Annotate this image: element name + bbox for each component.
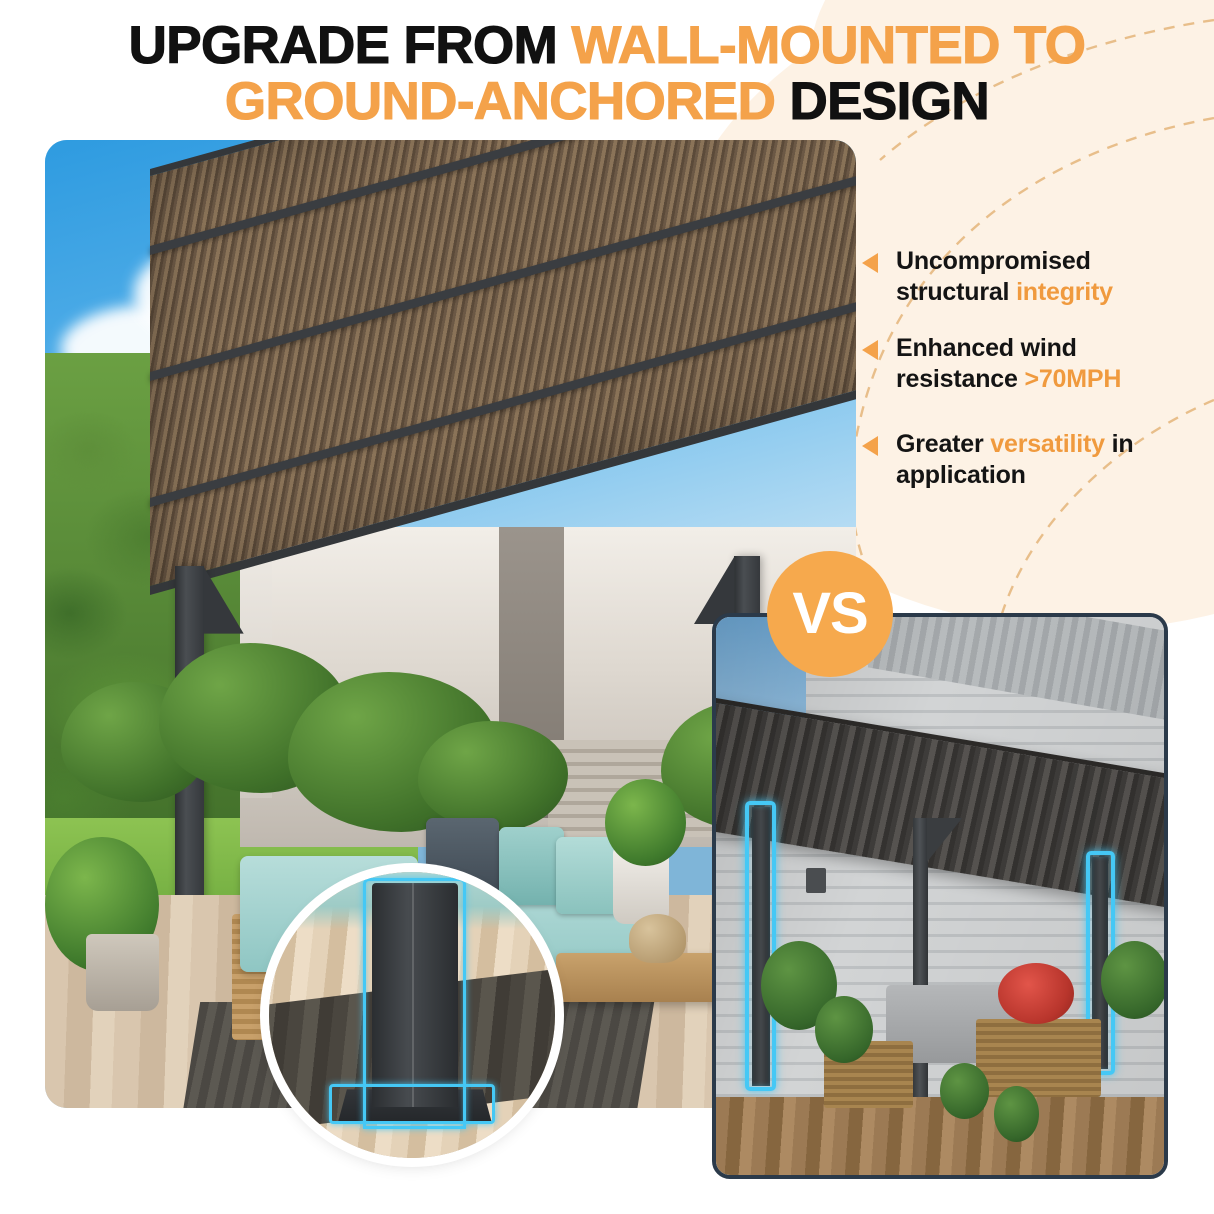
potted-plant (815, 996, 873, 1063)
bullet-text-plain: Greater (896, 430, 990, 458)
potted-plant (994, 1086, 1039, 1142)
post-highlight-outline (363, 878, 466, 1130)
wood-planter-box (976, 1019, 1101, 1097)
headline-line-2: GROUND-ANCHORED DESIGN (0, 74, 1214, 130)
bullet-text: Enhanced wind resistance >70MPH (896, 333, 1192, 395)
throw-pillow (556, 837, 621, 914)
bullet-item-wind-resistance: Enhanced wind resistance >70MPH (862, 333, 1192, 395)
vs-badge-label: VS (792, 585, 867, 643)
wall-lamp (806, 868, 826, 893)
wall-rail-highlight-left (745, 801, 776, 1091)
headline-line-1: UPGRADE FROM WALL-MOUNTED TO (0, 18, 1214, 74)
bullet-text-highlight: integrity (1016, 278, 1113, 306)
hedge-bush (418, 721, 568, 831)
post-anchor-detail-inset (269, 872, 555, 1158)
headline-plain-2: DESIGN (775, 72, 989, 131)
triangle-left-icon (862, 340, 878, 360)
potted-plant (605, 779, 686, 866)
bullet-text: Greater versatility in application (896, 429, 1192, 491)
triangle-left-icon (862, 253, 878, 273)
deck-floor (716, 1097, 1164, 1175)
page-title: UPGRADE FROM WALL-MOUNTED TO GROUND-ANCH… (0, 18, 1214, 130)
bullet-text-highlight: >70MPH (1024, 365, 1121, 393)
potted-plant (1101, 941, 1168, 1019)
bullet-item-integrity: Uncompromised structural integrity (862, 246, 1192, 308)
decor-bowl (629, 914, 686, 962)
bullet-text-highlight: versatility (990, 430, 1105, 458)
headline-plain-1: UPGRADE FROM (129, 16, 572, 75)
comparison-photo-wall-mounted (712, 613, 1168, 1179)
headline-highlight-1: WALL-MOUNTED TO (571, 16, 1085, 75)
headline-highlight-2: GROUND-ANCHORED (225, 72, 775, 131)
triangle-left-icon (862, 436, 878, 456)
bullet-text: Uncompromised structural integrity (896, 246, 1192, 308)
bullet-item-versatility: Greater versatility in application (862, 429, 1192, 491)
feature-bullet-list: Uncompromised structural integrity Enhan… (862, 246, 1192, 491)
stone-planter (86, 934, 159, 1011)
potted-plant (940, 1063, 989, 1119)
vs-badge: VS (767, 551, 893, 677)
